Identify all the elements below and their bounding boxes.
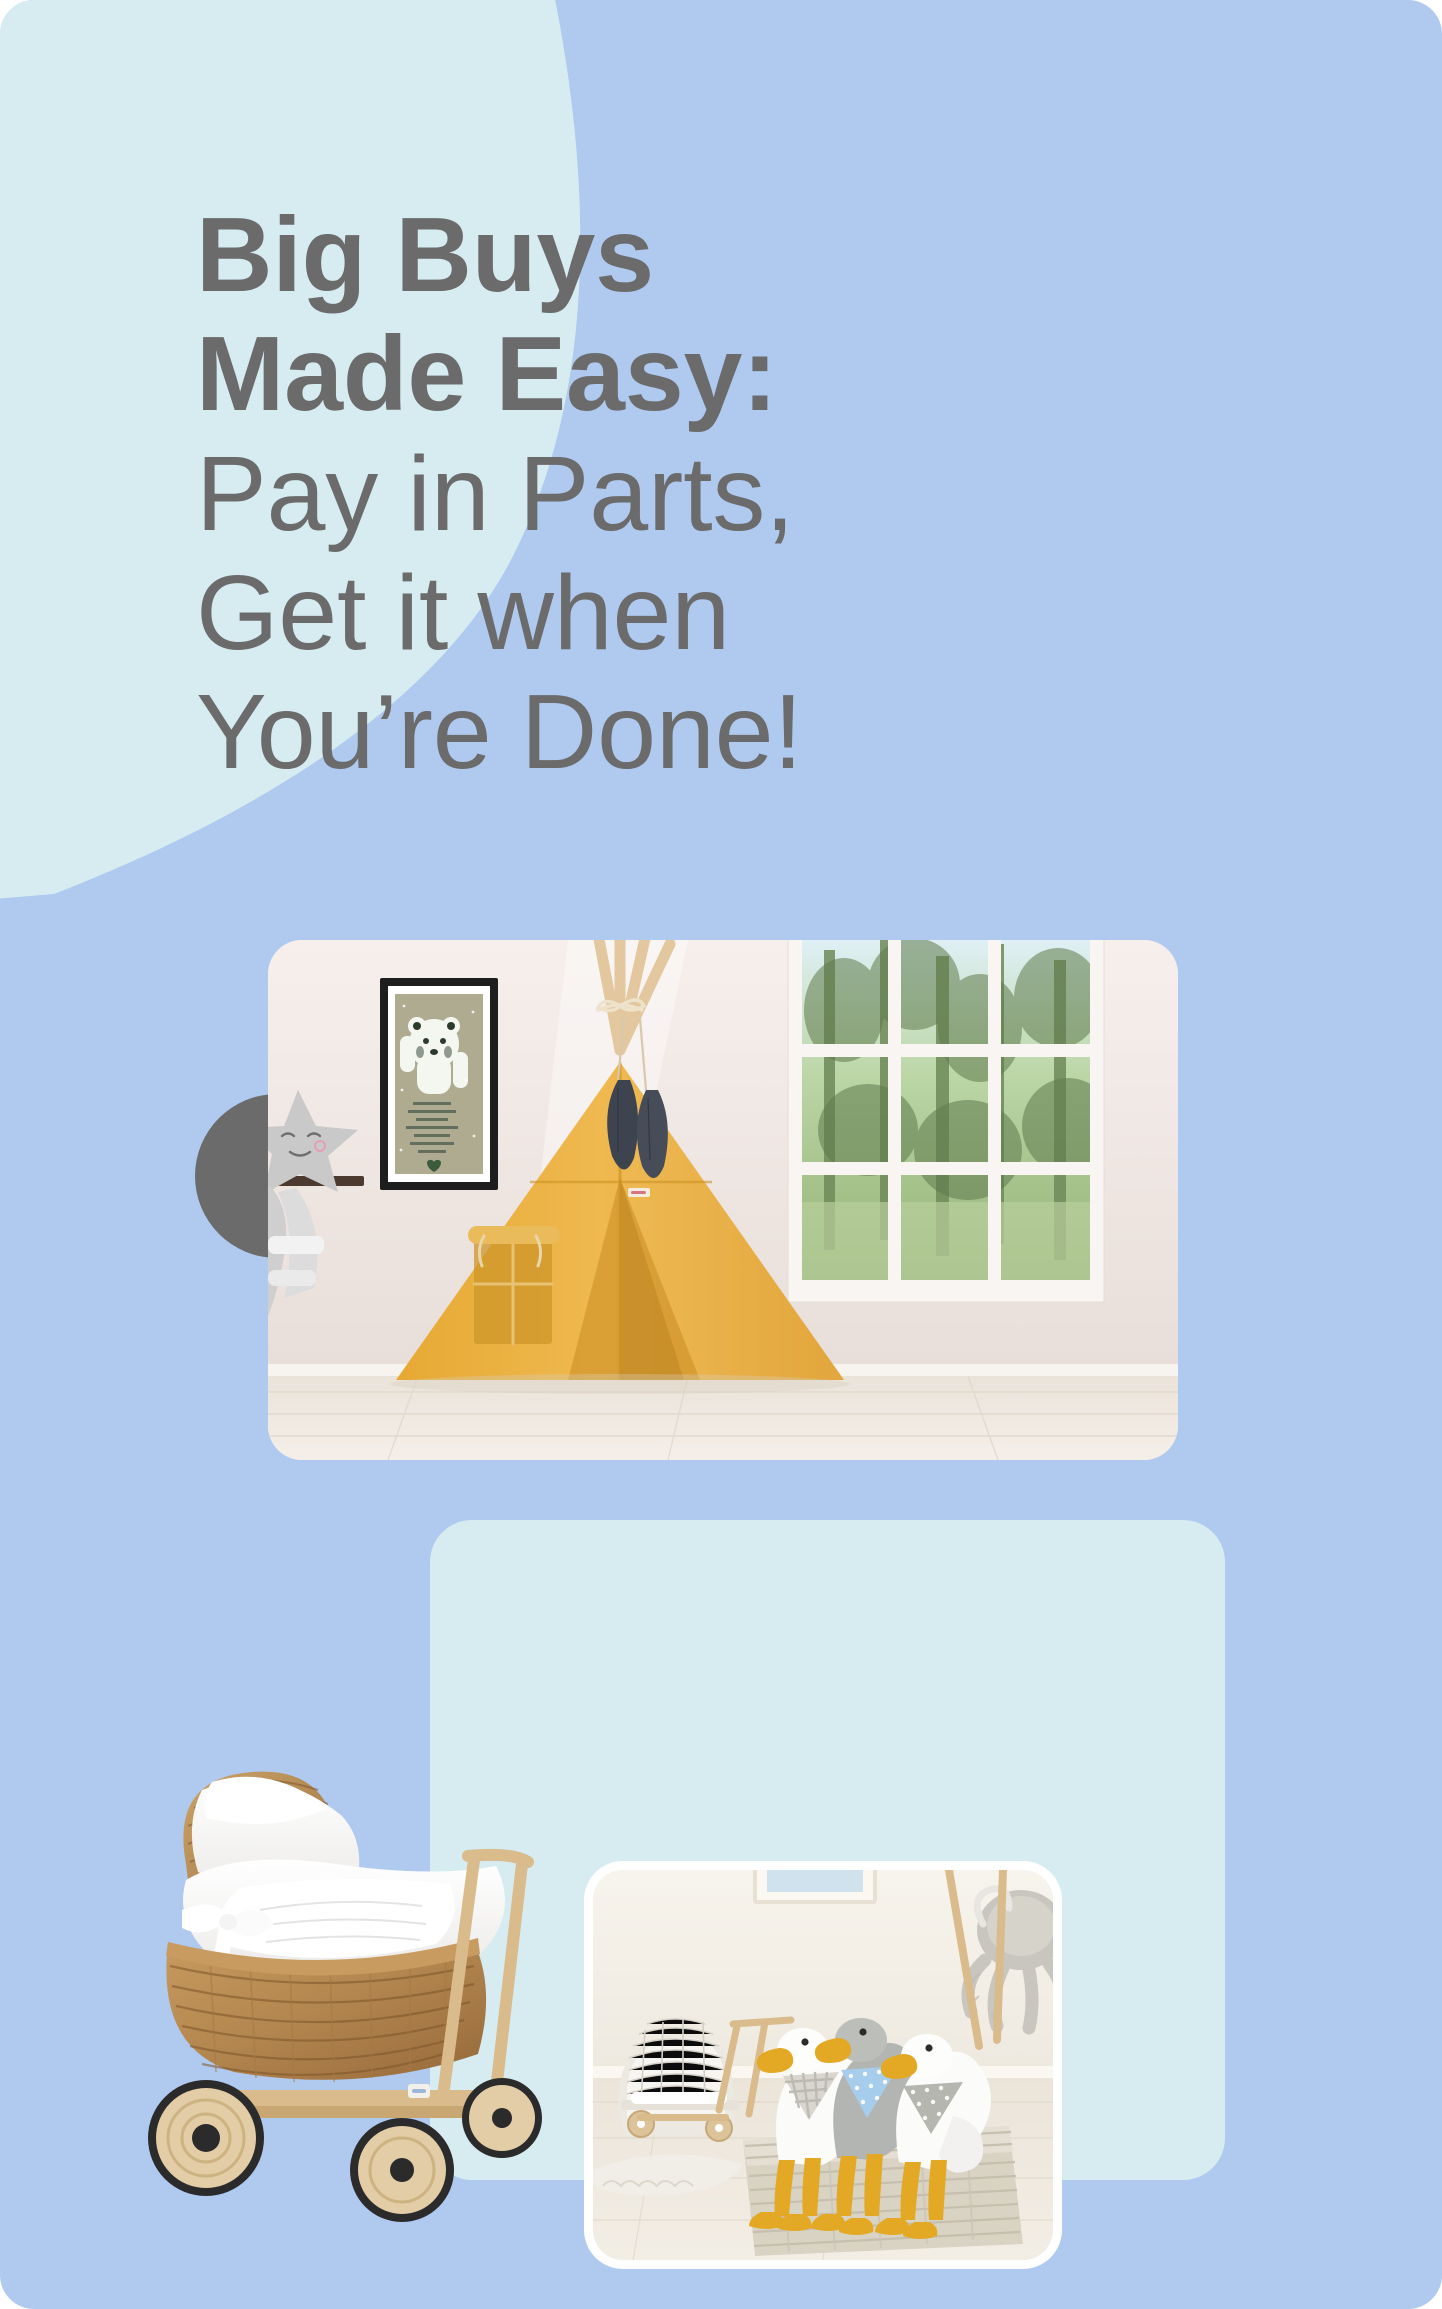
- promo-banner: Big Buys Made Easy: Pay in Parts, Get it…: [0, 0, 1442, 2309]
- garden-window: [788, 940, 1114, 1302]
- inset-product-image[interactable]: [593, 1870, 1053, 2260]
- headline-line-2: Made Easy:: [196, 315, 1016, 434]
- headline-line-4: Get it when: [196, 554, 1016, 673]
- framed-picture: [755, 1870, 875, 1902]
- teepee-window: [468, 1226, 560, 1344]
- pram-wheel-rear-left: [148, 2080, 264, 2196]
- bedding-bow: [182, 1905, 274, 2018]
- headline-line-5: You’re Done!: [196, 673, 1016, 792]
- page-title: Big Buys Made Easy: Pay in Parts, Get it…: [196, 196, 1016, 792]
- framed-bear-poster: [380, 978, 498, 1190]
- headline-line-1: Big Buys: [196, 196, 1016, 315]
- headline-line-3: Pay in Parts,: [196, 435, 1016, 554]
- hero-product-image[interactable]: [268, 940, 1178, 1460]
